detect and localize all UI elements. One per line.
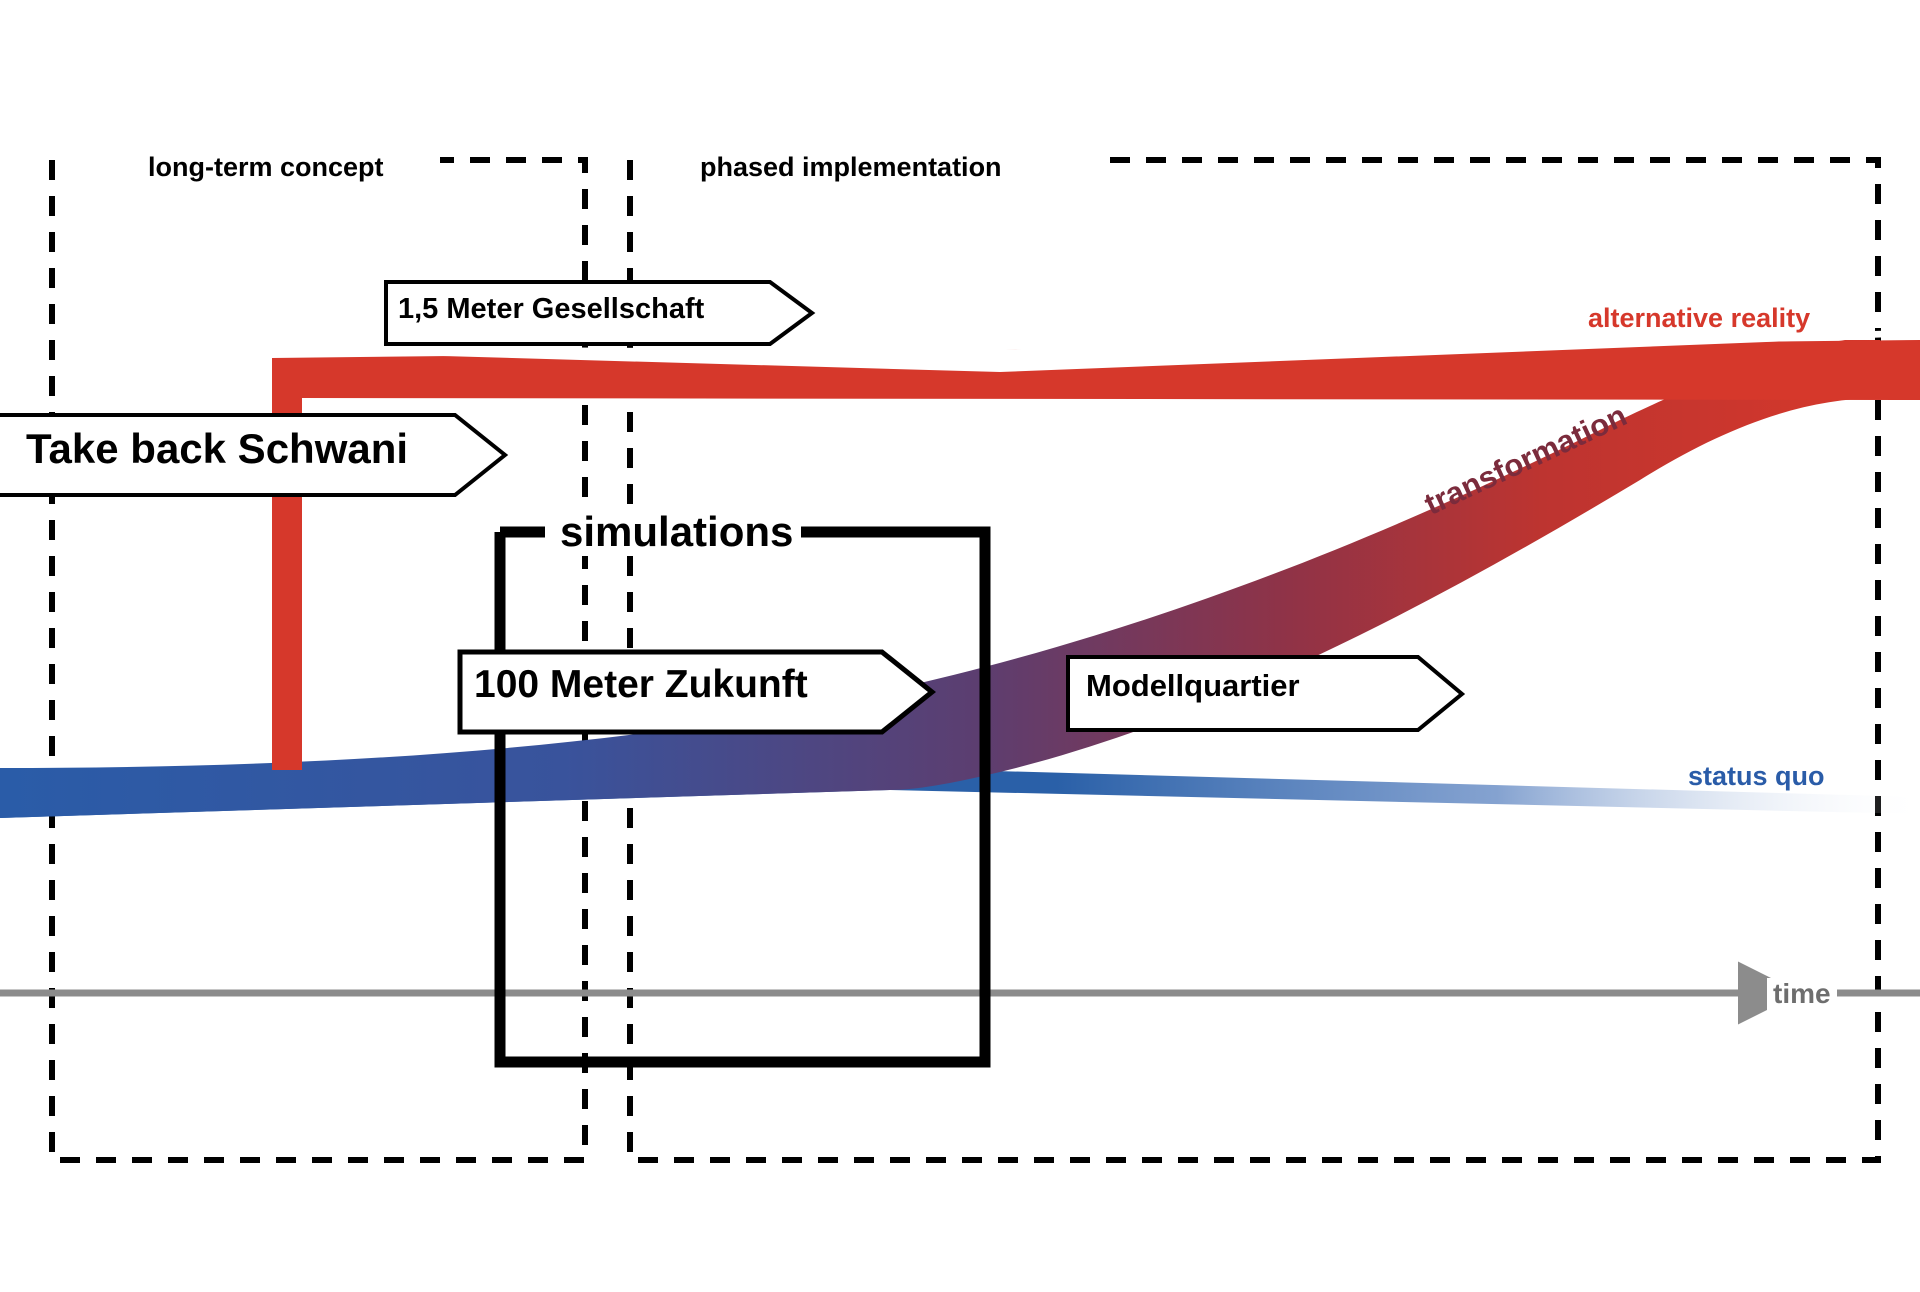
stream-label-alternative-reality: alternative reality [1588,303,1810,334]
sign-label-take-back-schwani[interactable]: Take back Schwani [26,425,408,473]
diagram-canvas: long-term concept phased implementation … [0,0,1920,1292]
timeline-diagram [0,0,1920,1292]
phase-label-long-term-concept: long-term concept [148,152,384,183]
sign-label-modellquartier[interactable]: Modellquartier [1086,668,1300,704]
sign-label-hundert-meter-zukunft[interactable]: 100 Meter Zukunft [474,663,808,707]
stream-label-status-quo: status quo [1688,761,1825,792]
phase-label-phased-implementation: phased implementation [700,152,1002,183]
time-axis-label: time [1767,978,1837,1010]
sign-label-anderthalb-meter-gesellschaft[interactable]: 1,5 Meter Gesellschaft [398,293,704,326]
alternative-reality-riser [272,600,302,770]
bracket-label-simulations: simulations [552,508,801,556]
